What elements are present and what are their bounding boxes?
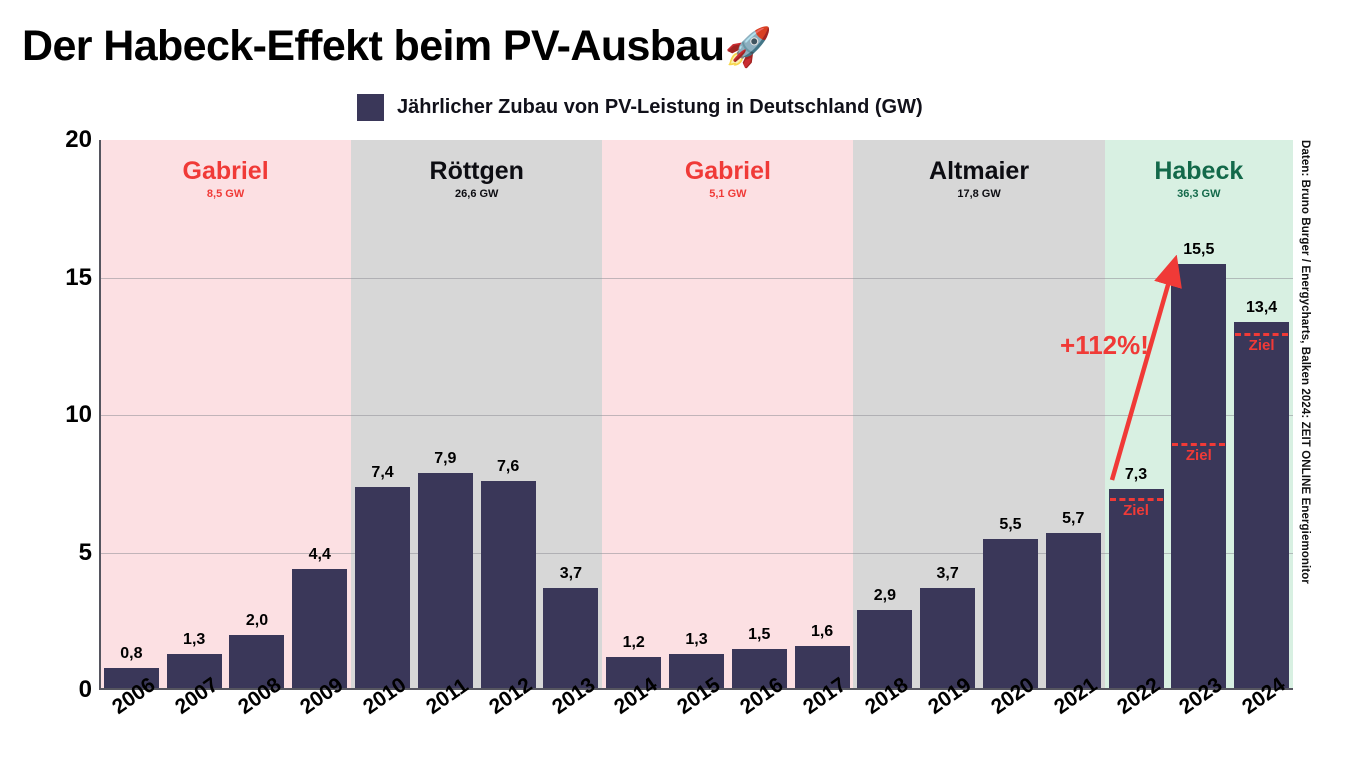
- bar-2011[interactable]: 7,9: [418, 473, 473, 690]
- target-line-2024: [1235, 333, 1288, 336]
- bar-value-label: 0,8: [120, 645, 142, 663]
- y-axis-tick: 0: [36, 676, 92, 704]
- bar-2012[interactable]: 7,6: [481, 481, 536, 690]
- bar-2013[interactable]: 3,7: [543, 588, 598, 690]
- target-label-2024: Ziel: [1249, 337, 1275, 354]
- y-axis-tick: 15: [36, 264, 92, 292]
- y-axis-tick: 20: [36, 126, 92, 154]
- rocket-icon: 🚀: [724, 27, 771, 69]
- chart-legend: Jährlicher Zubau von PV-Leistung in Deut…: [357, 94, 923, 121]
- bar-value-label: 3,7: [560, 565, 582, 583]
- source-note: Daten: Bruno Burger / Energycharts, Balk…: [1299, 140, 1311, 584]
- chart-page: Der Habeck-Effekt beim PV-Ausbau🚀 Jährli…: [0, 0, 1366, 762]
- bar-value-label: 1,5: [748, 626, 770, 644]
- bar-value-label: 7,9: [434, 450, 456, 468]
- bar-value-label: 4,4: [309, 546, 331, 564]
- bar-2020[interactable]: 5,5: [983, 539, 1038, 690]
- bar-value-label: 1,2: [623, 634, 645, 652]
- bar-2009[interactable]: 4,4: [292, 569, 347, 690]
- bar-value-label: 1,6: [811, 623, 833, 641]
- bar-value-label: 1,3: [685, 631, 707, 649]
- y-axis-tick: 10: [36, 401, 92, 429]
- bar-value-label: 5,5: [999, 516, 1021, 534]
- bar-2022[interactable]: 7,3Ziel: [1109, 489, 1164, 690]
- legend-label: Jährlicher Zubau von PV-Leistung in Deut…: [397, 96, 923, 119]
- bar-value-label: 1,3: [183, 631, 205, 649]
- bar-2024[interactable]: 13,4Ziel: [1234, 322, 1289, 691]
- bar-2010[interactable]: 7,4: [355, 487, 410, 691]
- page-title: Der Habeck-Effekt beim PV-Ausbau🚀: [22, 22, 771, 71]
- bar-value-label: 5,7: [1062, 510, 1084, 528]
- bar-value-label: 13,4: [1246, 299, 1277, 317]
- bar-value-label: 7,4: [371, 464, 393, 482]
- y-axis-line: [99, 140, 101, 690]
- bar-value-label: 2,9: [874, 587, 896, 605]
- bar-2019[interactable]: 3,7: [920, 588, 975, 690]
- page-title-text: Der Habeck-Effekt beim PV-Ausbau: [22, 22, 724, 70]
- legend-color-swatch: [357, 94, 384, 121]
- bar-value-label: 7,6: [497, 458, 519, 476]
- y-axis-tick: 5: [36, 539, 92, 567]
- growth-arrow-icon: [1090, 255, 1200, 505]
- bar-value-label: 2,0: [246, 612, 268, 630]
- bar-value-label: 3,7: [937, 565, 959, 583]
- bar-2018[interactable]: 2,9: [857, 610, 912, 690]
- bar-2021[interactable]: 5,7: [1046, 533, 1101, 690]
